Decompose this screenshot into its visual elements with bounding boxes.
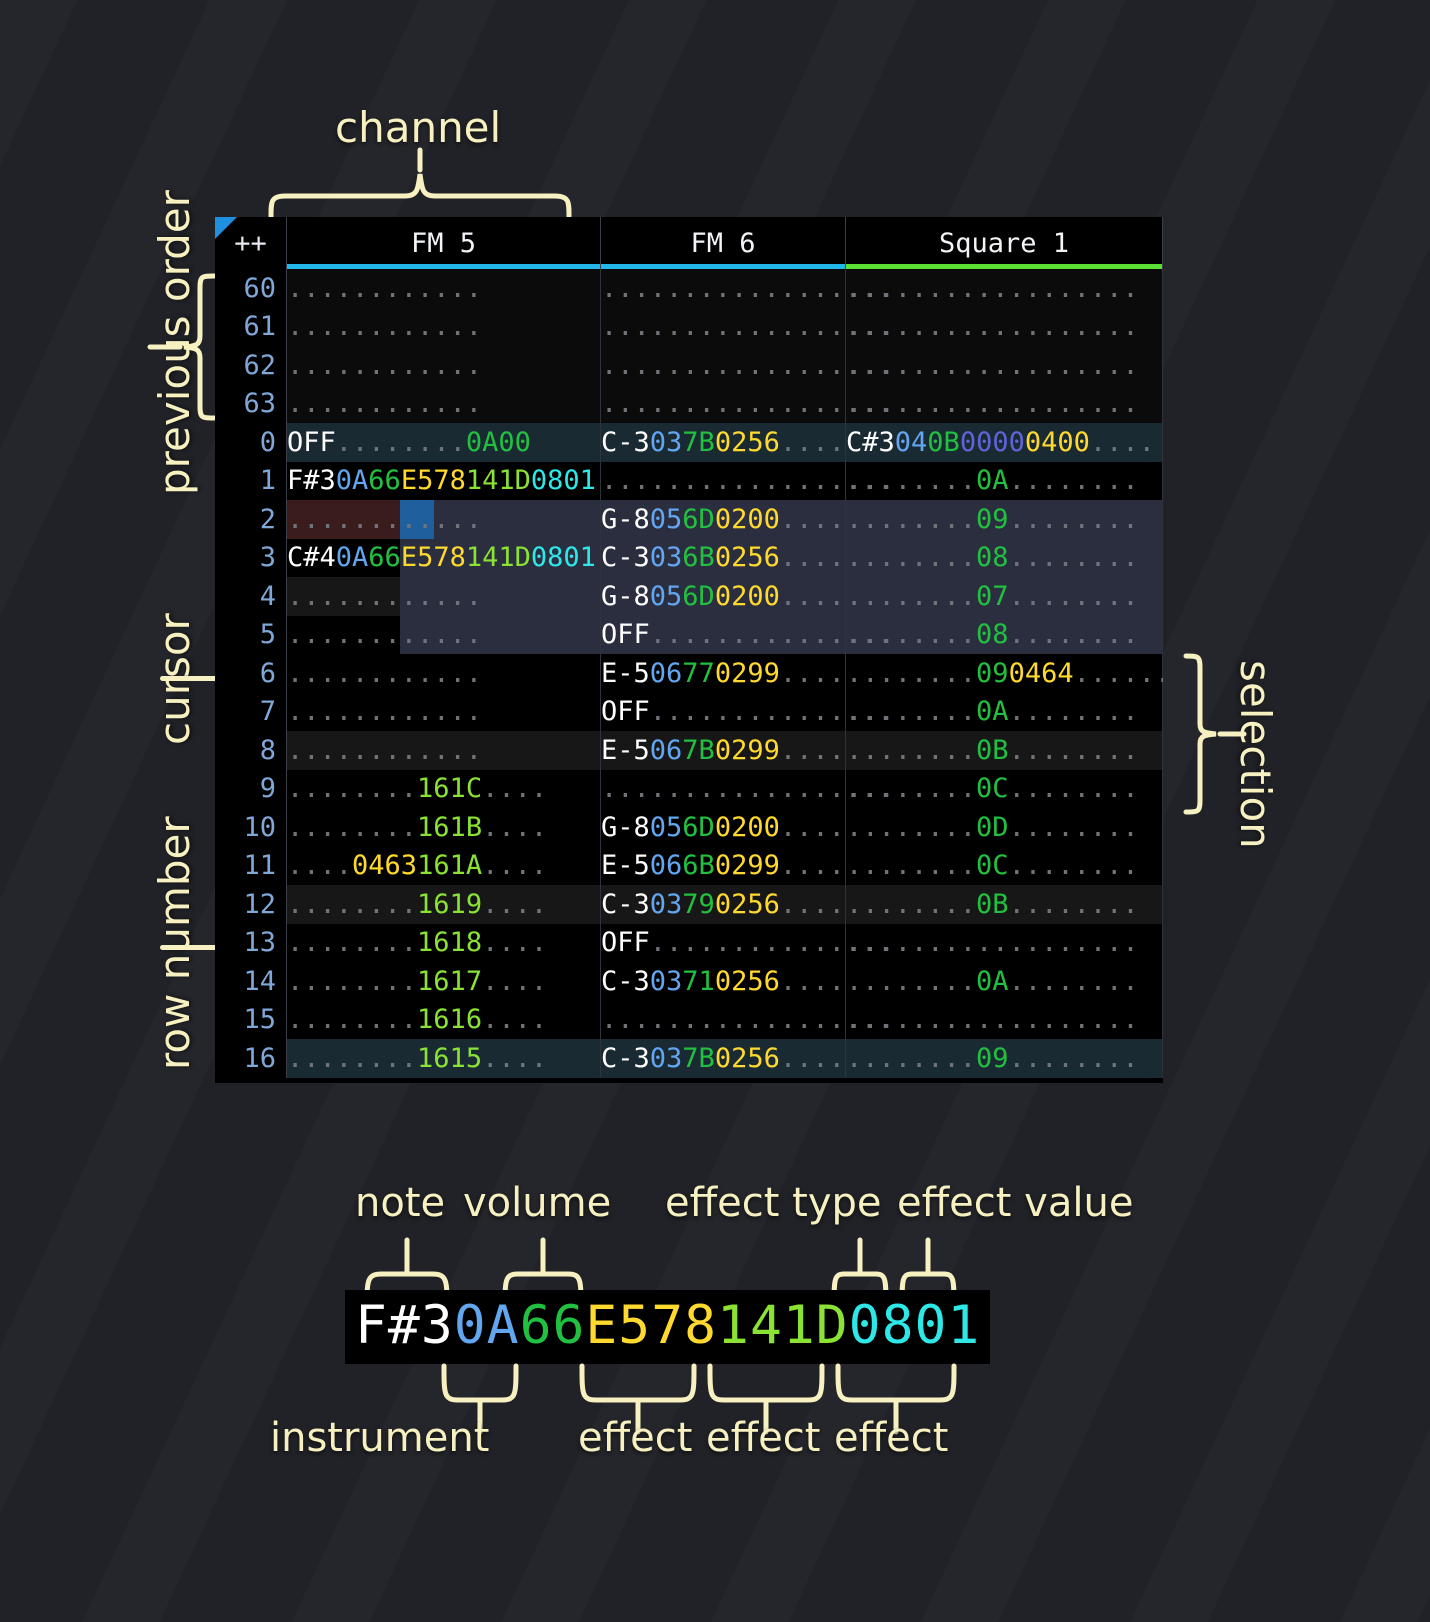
cell-segment-fx1: 0299 (715, 658, 780, 689)
cell-segment-dot: .... (780, 1043, 845, 1074)
legend-segment-ins: 0A (454, 1295, 520, 1356)
cell-segment-dot: ............ (287, 581, 482, 612)
cell-segment-fx1: 0400 (1025, 427, 1090, 458)
pattern-row[interactable]: 16........1615....C-3037B0256...........… (215, 1039, 1163, 1078)
row-number: 63 (215, 385, 287, 424)
annotation-channel: channel (335, 103, 501, 152)
cell-segment-vol: 7B (682, 427, 715, 458)
row-number-header[interactable]: ++ (215, 217, 287, 269)
pattern-row[interactable]: 60......................................… (215, 269, 1163, 308)
pattern-cell[interactable]: ............ (287, 500, 601, 539)
cell-segment-ins: 06 (650, 850, 683, 881)
cell-segment-dot: ........ (1009, 619, 1139, 650)
pattern-cell[interactable]: ....0463161A.... (287, 847, 601, 886)
cell-segment-note: OFF (287, 427, 336, 458)
pattern-row[interactable]: 5............OFF.......................0… (215, 616, 1163, 655)
pattern-row[interactable]: 62......................................… (215, 346, 1163, 385)
cell-segment-dot: ........ (846, 966, 976, 997)
pattern-cell[interactable]: C-303790256.... (601, 885, 846, 924)
cell-segment-ins: 03 (650, 966, 683, 997)
annotation-effect-b: effect (706, 1415, 820, 1461)
cell-segment-grn: 1616 (417, 1004, 482, 1035)
cell-segment-ins: 03 (650, 889, 683, 920)
cell-segment-dot: .... (780, 658, 845, 689)
cell-segment-dot: ............ (287, 696, 482, 727)
cell-segment-dot: .... (780, 812, 845, 843)
row-number: 14 (215, 962, 287, 1001)
cell-segment-dot: .... (482, 1004, 547, 1035)
cell-segment-dot: .... (482, 966, 547, 997)
pattern-row[interactable]: 63......................................… (215, 385, 1163, 424)
row-number: 2 (215, 500, 287, 539)
cell-segment-note: C-3 (601, 427, 650, 458)
cell-segment-dot: ........ (846, 504, 976, 535)
row-number: 62 (215, 346, 287, 385)
cell-segment-dot: .... (780, 504, 845, 535)
cell-segment-note: E-5 (601, 658, 650, 689)
pattern-cell[interactable]: ............ (287, 308, 601, 347)
pattern-row[interactable]: 0OFF........0A00C-3037B0256....C#3040B00… (215, 423, 1163, 462)
pattern-cell[interactable]: .................. (601, 462, 846, 501)
cell-segment-dot: ........ (846, 465, 976, 496)
cell-segment-dot: ............ (287, 311, 482, 342)
pattern-cell[interactable]: ............ (287, 731, 601, 770)
cell-segment-dot: .................. (846, 388, 1139, 419)
pattern-cell[interactable]: ........1615.... (287, 1039, 601, 1078)
cell-segment-ins: 06 (650, 735, 683, 766)
pattern-cell[interactable]: ........08........ (846, 616, 1163, 655)
cell-segment-vol: 7B (682, 735, 715, 766)
cell-segment-fx1: E578 (401, 542, 466, 573)
pattern-cell[interactable]: .................. (601, 308, 846, 347)
cell-segment-fx1: 0256 (715, 889, 780, 920)
pattern-cell[interactable]: ........1616.... (287, 1001, 601, 1040)
cell-segment-ins: 05 (650, 812, 683, 843)
cell-segment-dot: ............ (287, 504, 482, 535)
brace-selection (1178, 652, 1224, 817)
cell-segment-dot: .... (780, 542, 845, 573)
cell-segment-dot: ............ (287, 273, 482, 304)
cell-segment-vol: 71 (682, 966, 715, 997)
pattern-cell[interactable]: G-8056D0200.... (601, 808, 846, 847)
cell-segment-dot: ........ (287, 1004, 417, 1035)
annotation-effect-value: effect value (897, 1180, 1133, 1226)
pattern-cell[interactable]: .................. (601, 770, 846, 809)
cell-segment-fx1: 0200 (715, 812, 780, 843)
cell-segment-grn: 161C (417, 773, 482, 804)
annotation-note: note (355, 1180, 445, 1226)
cell-segment-fx3: 0801 (531, 465, 596, 496)
cell-segment-ins: 0A (336, 542, 369, 573)
cell-segment-dot: ........ (336, 427, 466, 458)
pattern-cell[interactable]: .................. (601, 346, 846, 385)
cell-segment-ins: 04 (895, 427, 928, 458)
cell-segment-dot: ............ (287, 388, 482, 419)
cell-segment-note: E-5 (601, 850, 650, 881)
legend-pattern-cell: F#30A66E578141D0801 (345, 1290, 990, 1364)
cell-segment-fx1: 0299 (715, 850, 780, 881)
pattern-cell[interactable]: OFF............... (601, 924, 846, 963)
cell-segment-note: C#3 (846, 427, 895, 458)
cell-segment-dot: ........ (287, 1043, 417, 1074)
pattern-cell[interactable]: .................. (846, 1001, 1163, 1040)
row-number: 6 (215, 654, 287, 693)
cell-segment-fx1: 0256 (715, 427, 780, 458)
pattern-cell[interactable]: ........08........ (846, 539, 1163, 578)
channel-name-label: FM 6 (690, 228, 755, 259)
cell-segment-dot: ........ (846, 1043, 976, 1074)
pattern-row[interactable]: 13........1618....OFF...................… (215, 924, 1163, 963)
cell-segment-volg: 09 (976, 1043, 1009, 1074)
pattern-cell[interactable]: ............ (287, 693, 601, 732)
cell-segment-dot: ........ (1009, 773, 1139, 804)
cell-segment-vol: 0A00 (466, 427, 531, 458)
cell-segment-volg: 0C (976, 773, 1009, 804)
pattern-row[interactable]: 4............G-8056D0200............07..… (215, 577, 1163, 616)
cell-segment-dot: ........ (1009, 581, 1139, 612)
cell-segment-vol: 6D (682, 812, 715, 843)
pattern-cell[interactable]: OFF............... (601, 693, 846, 732)
cell-segment-fx1: 0299 (715, 735, 780, 766)
pattern-cell[interactable]: ........0D........ (846, 808, 1163, 847)
cell-segment-dot: .... (287, 850, 352, 881)
cell-segment-dot: .................. (846, 311, 1139, 342)
pattern-cell[interactable]: C-3037B0256.... (601, 1039, 846, 1078)
pattern-cell[interactable]: OFF............... (601, 616, 846, 655)
cell-segment-dot: ........ (1009, 696, 1139, 727)
pattern-cell[interactable]: C-3036B0256.... (601, 539, 846, 578)
cell-segment-dot: ........ (846, 658, 976, 689)
cell-segment-vol: 79 (682, 889, 715, 920)
cell-segment-dot: ........ (846, 542, 976, 573)
pattern-cell[interactable]: ........161C.... (287, 770, 601, 809)
cell-segment-note: G-8 (601, 581, 650, 612)
channel-header-fm6[interactable]: FM 6 (601, 217, 846, 269)
cell-segment-dot: .................. (846, 273, 1139, 304)
pattern-cell[interactable]: .................. (846, 385, 1163, 424)
cell-segment-fx2: 141D (466, 542, 531, 573)
cell-segment-dot: ........ (846, 773, 976, 804)
pattern-cell[interactable]: .................. (601, 269, 846, 308)
pattern-cell[interactable]: C-303710256.... (601, 962, 846, 1001)
pattern-cell[interactable]: E-5067B0299.... (601, 731, 846, 770)
cell-segment-grn: 1615 (417, 1043, 482, 1074)
pattern-cell[interactable]: .................. (846, 346, 1163, 385)
pattern-row[interactable]: 1F#30A66E578141D0801....................… (215, 462, 1163, 501)
cell-segment-dot: ........ (846, 812, 976, 843)
cell-segment-dot: .... (780, 889, 845, 920)
cell-segment-dot: ...... (1074, 658, 1163, 689)
cell-segment-dot: ........ (846, 735, 976, 766)
cell-segment-dot: ........ (1009, 812, 1139, 843)
row-number: 3 (215, 539, 287, 578)
row-number: 9 (215, 770, 287, 809)
cell-segment-fx1: 0256 (715, 1043, 780, 1074)
pattern-cell[interactable]: ........07........ (846, 577, 1163, 616)
pattern-cell[interactable]: E-5066B0299.... (601, 847, 846, 886)
row-number: 5 (215, 616, 287, 655)
legend-segment-fx1: E578 (585, 1295, 717, 1356)
cell-segment-volg: 0A (976, 696, 1009, 727)
cell-segment-dot: ........ (287, 773, 417, 804)
annotation-effect-type: effect type (665, 1180, 882, 1226)
cell-segment-dot: ........ (1009, 966, 1139, 997)
cell-segment-note: OFF (601, 696, 650, 727)
cell-segment-volg: 0B (976, 735, 1009, 766)
cell-segment-dot: ........ (287, 889, 417, 920)
cell-segment-volg: 09 (976, 504, 1009, 535)
cell-segment-volg: 09 (976, 658, 1009, 689)
cell-segment-ins: 0A (336, 465, 369, 496)
cell-segment-dot: ............ (287, 619, 482, 650)
cell-segment-dot: ........ (287, 966, 417, 997)
row-number: 60 (215, 269, 287, 308)
legend-segment-fx2: 141D (717, 1295, 849, 1356)
pattern-row[interactable]: 2............G-8056D0200............09..… (215, 500, 1163, 539)
cell-segment-dot: ........ (1009, 465, 1139, 496)
annotation-instrument: instrument (270, 1415, 489, 1461)
pattern-cell[interactable]: .................. (846, 308, 1163, 347)
cell-segment-dot: .................. (846, 927, 1139, 958)
cell-segment-vol: 66 (368, 465, 401, 496)
pattern-row[interactable]: 15........1616..........................… (215, 1001, 1163, 1040)
pattern-cell[interactable]: ............ (287, 654, 601, 693)
pattern-editor[interactable]: ++ FM 5 FM 6 Square 1 60................… (215, 217, 1163, 1083)
channel-name-label: FM 5 (411, 228, 476, 259)
pattern-cell[interactable]: ........0A........ (846, 962, 1163, 1001)
pattern-cell[interactable]: .................. (846, 924, 1163, 963)
pattern-row[interactable]: 10........161B....G-8056D0200...........… (215, 808, 1163, 847)
pattern-cell[interactable]: OFF........0A00 (287, 423, 601, 462)
row-number: 10 (215, 808, 287, 847)
cell-segment-note: C#4 (287, 542, 336, 573)
cell-segment-volg: 0C (976, 850, 1009, 881)
cell-segment-dot: ........ (846, 850, 976, 881)
pattern-cell[interactable]: .................. (601, 1001, 846, 1040)
legend-segment-vol: 66 (520, 1295, 586, 1356)
pattern-row[interactable]: 11....0463161A....E-5066B0299...........… (215, 847, 1163, 886)
pattern-row[interactable]: 61......................................… (215, 308, 1163, 347)
cell-segment-fx1: 0463 (352, 850, 417, 881)
cell-segment-volg: 08 (976, 542, 1009, 573)
cell-segment-vol: 6D (682, 581, 715, 612)
cell-segment-dot: .... (780, 427, 845, 458)
pattern-cell[interactable]: C-3037B0256.... (601, 423, 846, 462)
cell-segment-fx1: 0200 (715, 581, 780, 612)
cell-segment-dot: ........ (846, 889, 976, 920)
pattern-header-row: ++ FM 5 FM 6 Square 1 (215, 217, 1163, 269)
row-number-header-label: ++ (234, 228, 267, 259)
cell-segment-dot: .... (780, 581, 845, 612)
cell-segment-volg: 08 (976, 619, 1009, 650)
cell-segment-dot: .... (780, 850, 845, 881)
pattern-cell[interactable]: F#30A66E578141D0801 (287, 462, 601, 501)
channel-header-fm5[interactable]: FM 5 (287, 217, 601, 269)
row-number: 13 (215, 924, 287, 963)
pattern-row[interactable]: 6............E-506770299............0904… (215, 654, 1163, 693)
cell-segment-fx1: 0256 (715, 966, 780, 997)
pattern-cell[interactable]: ............ (287, 616, 601, 655)
cell-segment-vol: 6B (682, 850, 715, 881)
cell-segment-ins: 03 (650, 1043, 683, 1074)
cell-segment-ins: 06 (650, 658, 683, 689)
pattern-cell[interactable]: ........0A........ (846, 693, 1163, 732)
row-number: 16 (215, 1039, 287, 1078)
cell-segment-note: C-3 (601, 889, 650, 920)
cell-segment-note: OFF (601, 619, 650, 650)
cell-segment-dot: ........ (1009, 735, 1139, 766)
cell-segment-dot: ........ (1009, 850, 1139, 881)
cell-segment-vol: 6B (682, 542, 715, 573)
cell-segment-dot: ........ (1009, 504, 1139, 535)
row-number: 12 (215, 885, 287, 924)
cell-segment-fx1: 0200 (715, 504, 780, 535)
cell-segment-dot: ........ (287, 927, 417, 958)
cell-segment-fx1: 0464 (1009, 658, 1074, 689)
cell-segment-grn: 1618 (417, 927, 482, 958)
cell-segment-volg: 0A (976, 966, 1009, 997)
row-number: 11 (215, 847, 287, 886)
channel-name-label: Square 1 (939, 228, 1069, 259)
cell-segment-ins: 03 (650, 427, 683, 458)
cell-segment-vol: 77 (682, 658, 715, 689)
cell-segment-dot: .... (482, 889, 547, 920)
cell-segment-ins: 05 (650, 581, 683, 612)
brace-channel (265, 168, 575, 218)
cell-segment-dot: ........ (846, 696, 976, 727)
legend-segment-fx3: 0801 (849, 1295, 981, 1356)
pattern-cell[interactable]: C#40A66E578141D0801 (287, 539, 601, 578)
cell-segment-volg: 0D (976, 812, 1009, 843)
cell-segment-fx2: 141D (466, 465, 531, 496)
pattern-cell[interactable]: ........1617.... (287, 962, 601, 1001)
pattern-cell[interactable]: ............ (287, 385, 601, 424)
cell-segment-dot: ............ (287, 350, 482, 381)
row-number: 4 (215, 577, 287, 616)
annotation-effect-c: effect (834, 1415, 948, 1461)
cell-segment-note: E-5 (601, 735, 650, 766)
cell-segment-note: F#3 (287, 465, 336, 496)
cell-segment-dot: .... (482, 812, 547, 843)
pattern-row[interactable]: 12........1619....C-303790256...........… (215, 885, 1163, 924)
cell-segment-dot: .................. (846, 1004, 1139, 1035)
row-number: 15 (215, 1001, 287, 1040)
cell-segment-grn: 1617 (417, 966, 482, 997)
cell-segment-dot: .... (780, 735, 845, 766)
cell-segment-fx1: E578 (401, 465, 466, 496)
cell-segment-ins: 03 (650, 542, 683, 573)
pattern-cell[interactable]: ........0B........ (846, 731, 1163, 770)
pattern-cell[interactable]: ........0A........ (846, 462, 1163, 501)
pattern-row[interactable]: 9........161C...........................… (215, 770, 1163, 809)
cell-segment-dot: ............ (287, 735, 482, 766)
annotation-selection: selection (1231, 660, 1280, 849)
cell-segment-dot: .................. (846, 350, 1139, 381)
corner-marker-icon (215, 217, 237, 239)
row-number: 7 (215, 693, 287, 732)
cell-segment-note: OFF (601, 927, 650, 958)
pattern-cell[interactable]: ............ (287, 346, 601, 385)
cell-segment-vol: 66 (368, 542, 401, 573)
cell-segment-dot: ........ (1009, 542, 1139, 573)
pattern-cell[interactable]: G-8056D0200.... (601, 500, 846, 539)
cell-segment-dot: .... (482, 1043, 547, 1074)
annotation-volume: volume (463, 1180, 611, 1226)
pattern-row[interactable]: 14........1617....C-303710256...........… (215, 962, 1163, 1001)
cell-segment-fx3: 0801 (531, 542, 596, 573)
row-number: 61 (215, 308, 287, 347)
cell-segment-dot: ........ (1009, 889, 1139, 920)
cell-segment-dot: .... (482, 850, 547, 881)
cell-segment-dot: .... (482, 927, 547, 958)
row-number: 8 (215, 731, 287, 770)
pattern-cell[interactable]: E-506770299.... (601, 654, 846, 693)
cell-segment-grn: 161B (417, 812, 482, 843)
pattern-cell[interactable]: ........09........ (846, 500, 1163, 539)
annotation-effect-a: effect (578, 1415, 692, 1461)
cell-segment-vol: 7B (682, 1043, 715, 1074)
cell-segment-fx1: 0256 (715, 542, 780, 573)
pattern-cell[interactable]: ........09........ (846, 1039, 1163, 1078)
pattern-cell[interactable]: ............ (287, 269, 601, 308)
cell-segment-dot: ........ (1009, 1043, 1139, 1074)
cell-segment-note: G-8 (601, 504, 650, 535)
cell-segment-note: C-3 (601, 966, 650, 997)
cell-segment-vol: 0B (927, 427, 960, 458)
cell-segment-vol: 6D (682, 504, 715, 535)
pattern-cell[interactable]: G-8056D0200.... (601, 577, 846, 616)
cell-segment-fxv: 0000 (960, 427, 1025, 458)
row-number: 0 (215, 423, 287, 462)
pattern-cell[interactable]: ............ (287, 577, 601, 616)
cell-segment-note: G-8 (601, 812, 650, 843)
channel-header-square1[interactable]: Square 1 (846, 217, 1163, 269)
cell-segment-volg: 0B (976, 889, 1009, 920)
cell-segment-note: C-3 (601, 542, 650, 573)
pattern-cell[interactable]: ........0C........ (846, 770, 1163, 809)
pattern-row[interactable]: 3C#40A66E578141D0801C-3036B0256.........… (215, 539, 1163, 578)
legend-segment-note: F#3 (355, 1295, 454, 1356)
pattern-cell[interactable]: ........1618.... (287, 924, 601, 963)
pattern-cell[interactable]: ........161B.... (287, 808, 601, 847)
cell-segment-dot: ........ (287, 812, 417, 843)
cell-segment-dot: .... (482, 773, 547, 804)
cell-segment-dot: .... (780, 966, 845, 997)
pattern-cell[interactable]: ........0C........ (846, 847, 1163, 886)
cell-segment-volg: 0A (976, 465, 1009, 496)
annotation-row-number: row number (150, 816, 199, 1070)
pattern-cell[interactable]: C#3040B00000400.... (846, 423, 1163, 462)
pattern-row[interactable]: 7............OFF.......................0… (215, 693, 1163, 732)
pattern-row[interactable]: 8............E-5067B0299............0B..… (215, 731, 1163, 770)
cell-segment-dot: ........ (846, 619, 976, 650)
cell-segment-volg: 07 (976, 581, 1009, 612)
cell-segment-dot: .... (1090, 427, 1155, 458)
cell-segment-ins: 05 (650, 504, 683, 535)
cell-segment-dot: ............ (287, 658, 482, 689)
cell-segment-grn: 1619 (417, 889, 482, 920)
cell-segment-dot: ........ (846, 581, 976, 612)
pattern-cell[interactable]: ........090464...... (846, 654, 1163, 693)
pattern-cell[interactable]: .................. (601, 385, 846, 424)
pattern-cell[interactable]: ........0B........ (846, 885, 1163, 924)
cell-segment-note: C-3 (601, 1043, 650, 1074)
row-number: 1 (215, 462, 287, 501)
pattern-cell[interactable]: ........1619.... (287, 885, 601, 924)
cell-segment-grn: 161A (417, 850, 482, 881)
pattern-cell[interactable]: .................. (846, 269, 1163, 308)
